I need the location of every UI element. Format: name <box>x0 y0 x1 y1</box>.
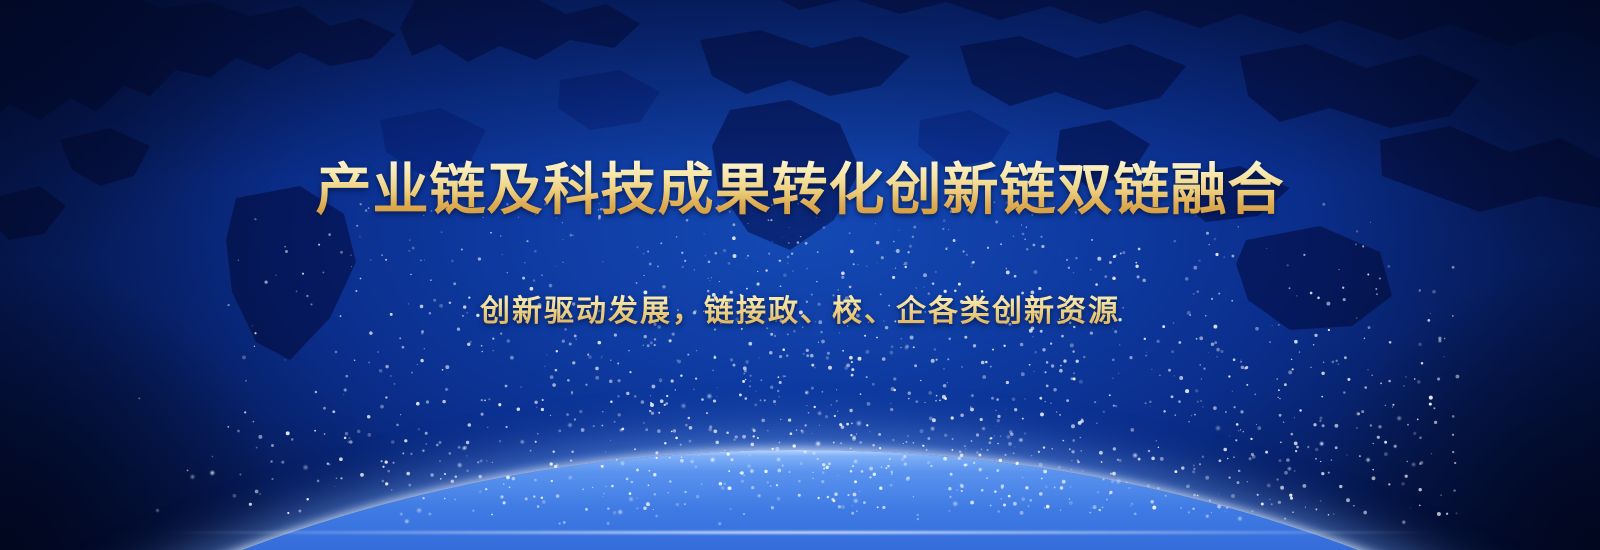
hero-banner: 产业链及科技成果转化创新链双链融合 创新驱动发展，链接政、校、企各类创新资源 <box>0 0 1600 550</box>
banner-title: 产业链及科技成果转化创新链双链融合 <box>316 160 1285 220</box>
banner-content: 产业链及科技成果转化创新链双链融合 创新驱动发展，链接政、校、企各类创新资源 <box>0 0 1600 550</box>
banner-subtitle: 创新驱动发展，链接政、校、企各类创新资源 <box>480 286 1120 330</box>
